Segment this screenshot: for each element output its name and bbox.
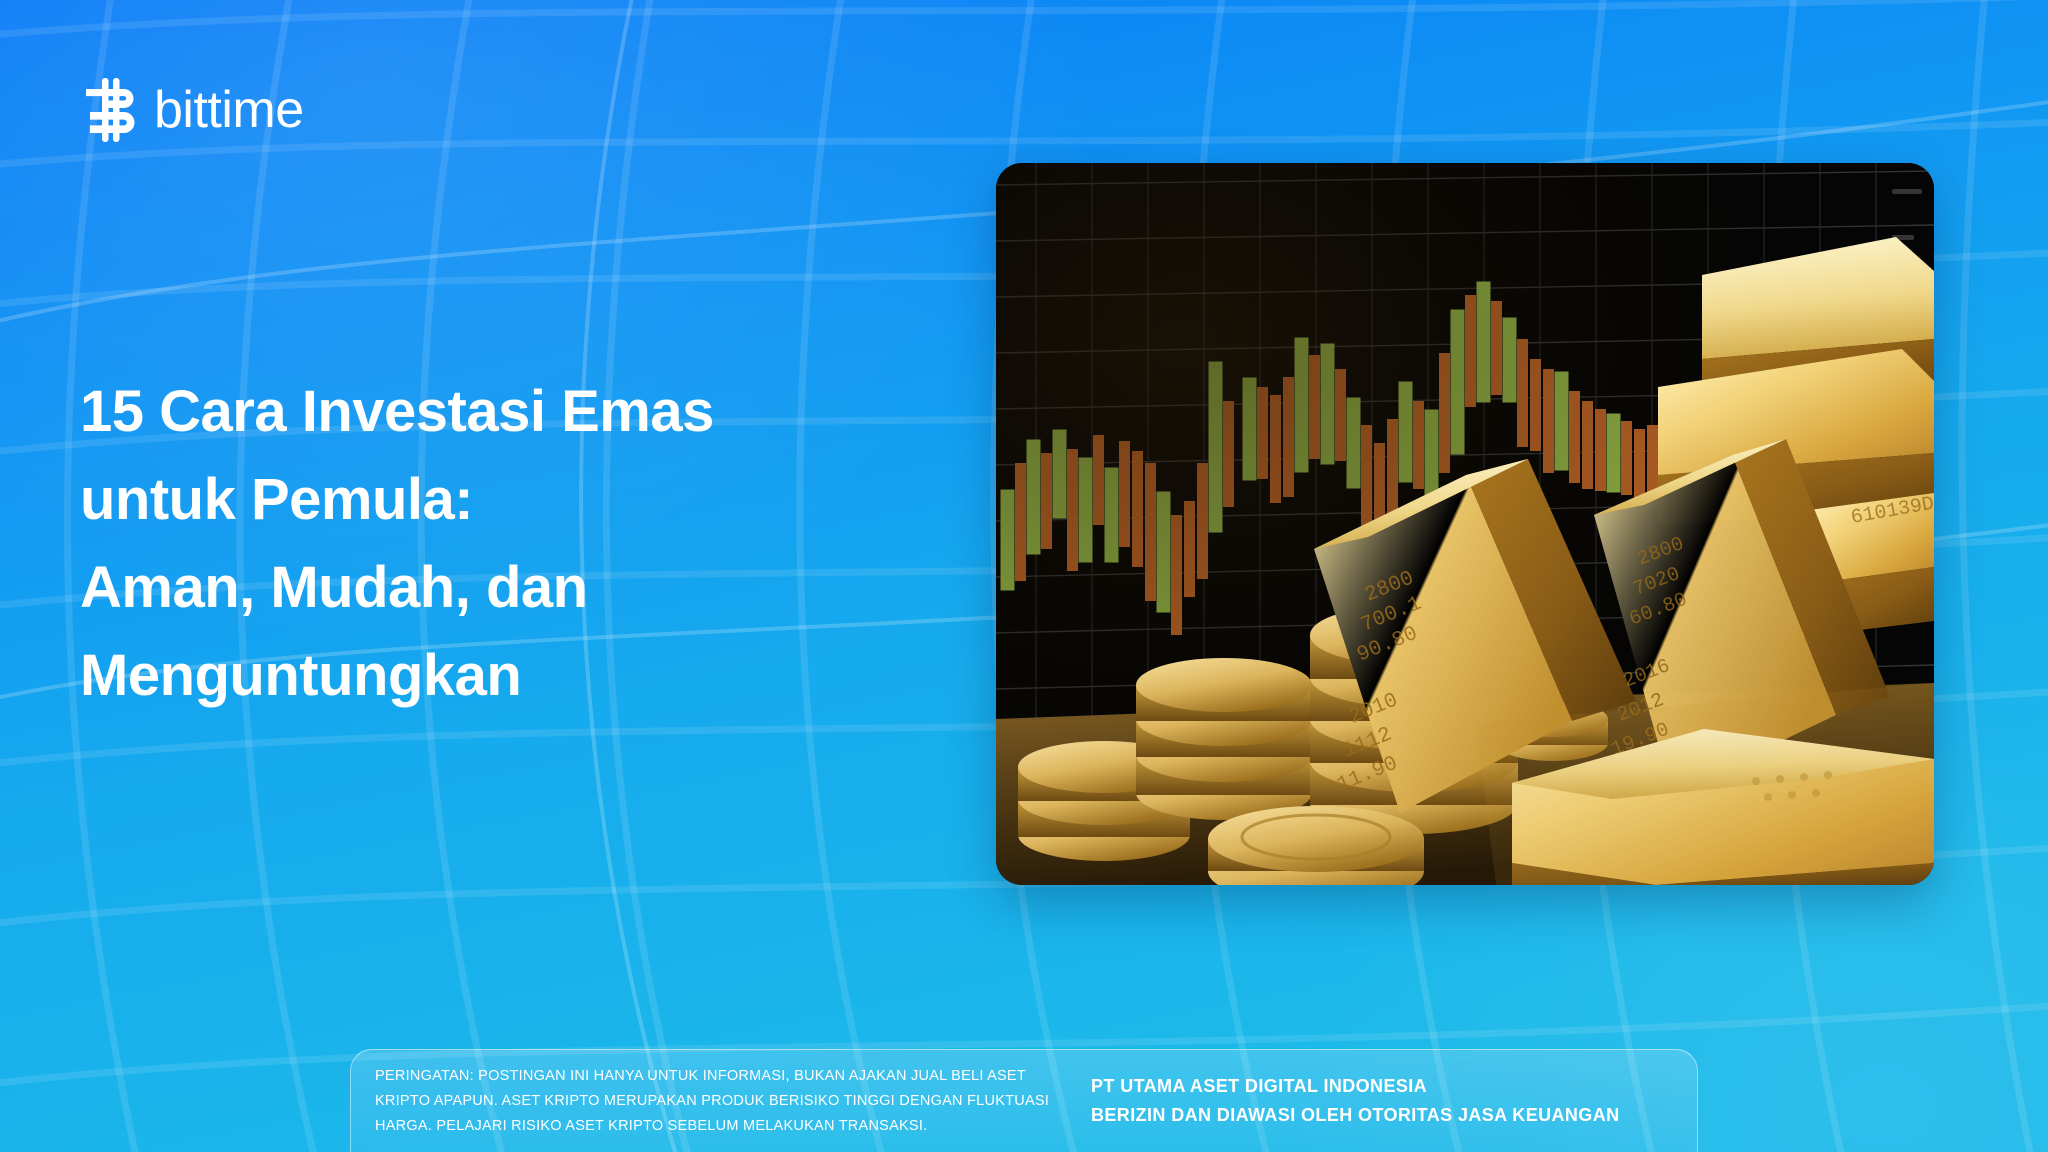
bittime-b-logo-icon — [84, 78, 140, 142]
article-cover-canvas: bittime 15 Cara Investasi Emas untuk Pem… — [0, 0, 2048, 1152]
headline-line-1: 15 Cara Investasi Emas — [80, 368, 870, 456]
headline-line-3: Aman, Mudah, dan — [80, 544, 870, 632]
hero-photo-card: 2800 700.1 90.80 2010 1112 11.90 2800 — [996, 163, 1934, 885]
license-line-1: PT UTAMA ASET DIGITAL INDONESIA — [1091, 1072, 1620, 1101]
license-line-2: BERIZIN DAN DIAWASI OLEH OTORITAS JASA K… — [1091, 1101, 1620, 1130]
risk-warning-text: PERINGATAN: POSTINGAN INI HANYA UNTUK IN… — [375, 1064, 1065, 1139]
headline-line-4: Menguntungkan — [80, 632, 870, 720]
headline: 15 Cara Investasi Emas untuk Pemula: Ama… — [80, 368, 870, 720]
bittime-logo[interactable]: bittime — [84, 78, 304, 142]
disclaimer-bar: PERINGATAN: POSTINGAN INI HANYA UNTUK IN… — [350, 1049, 1698, 1152]
license-statement: PT UTAMA ASET DIGITAL INDONESIA BERIZIN … — [1091, 1072, 1620, 1130]
bittime-wordmark: bittime — [154, 84, 304, 136]
gold-bars-and-coins-photo: 2800 700.1 90.80 2010 1112 11.90 2800 — [996, 163, 1934, 885]
headline-line-2: untuk Pemula: — [80, 456, 870, 544]
